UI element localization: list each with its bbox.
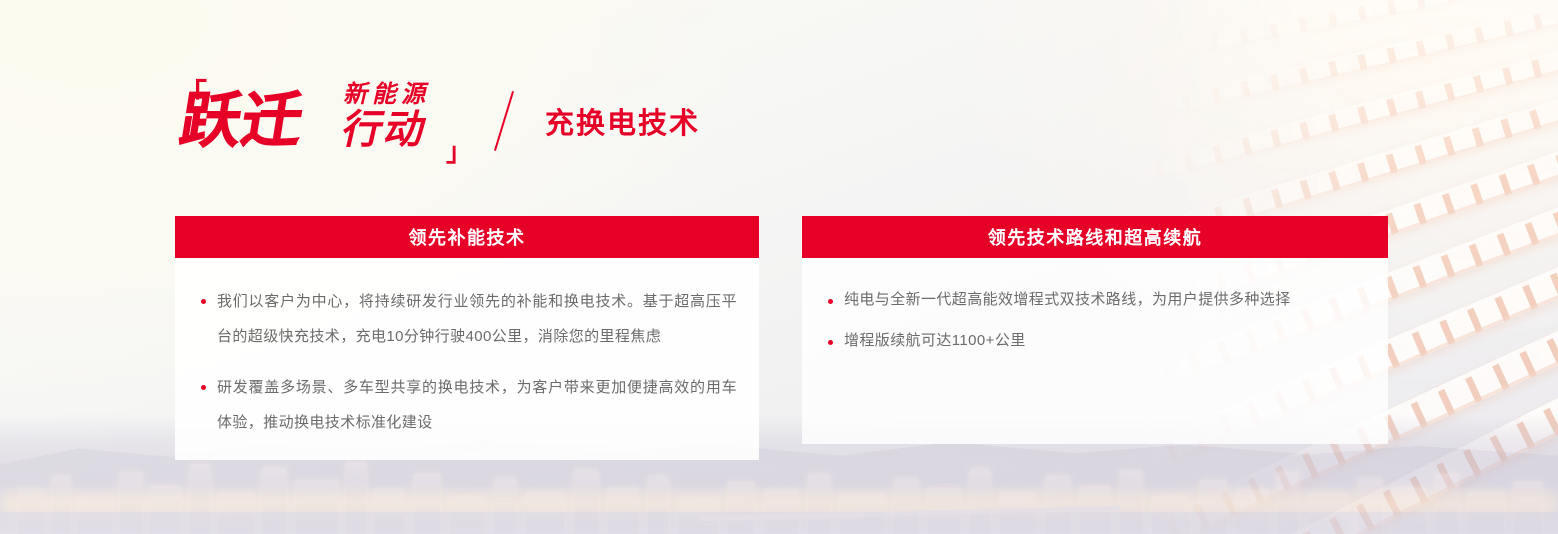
- logo-sub-top-text: 新能源: [342, 81, 435, 107]
- banner-stage: 「 跃迁 新能源 行动 「 充换电技术 领先补能技术 我们以客户为中心，将持续研…: [0, 0, 1558, 534]
- banner-header: 「 跃迁 新能源 行动 「 充换电技术: [175, 78, 700, 164]
- feature-card-leading-replenishment: 领先补能技术 我们以客户为中心，将持续研发行业领先的补能和换电技术。基于超高压平…: [175, 216, 759, 460]
- card-title-bar: 领先补能技术: [175, 216, 759, 258]
- feature-card-group: 领先补能技术 我们以客户为中心，将持续研发行业领先的补能和换电技术。基于超高压平…: [175, 216, 1388, 460]
- header-slash-divider: [494, 91, 514, 151]
- list-item: 增程版续航可达1100+公里: [824, 325, 1366, 357]
- card-body: 我们以客户为中心，将持续研发行业领先的补能和换电技术。基于超高压平台的超级快充技…: [175, 258, 759, 460]
- list-item: 我们以客户为中心，将持续研发行业领先的补能和换电技术。基于超高压平台的超级快充技…: [197, 284, 737, 354]
- card-title-bar: 领先技术路线和超高续航: [802, 216, 1388, 258]
- card-title: 领先补能技术: [409, 224, 526, 250]
- feature-card-tech-route-range: 领先技术路线和超高续航 纯电与全新一代超高能效增程式双技术路线，为用户提供多种选…: [802, 216, 1388, 460]
- list-item: 纯电与全新一代超高能效增程式双技术路线，为用户提供多种选择: [824, 284, 1366, 316]
- card-bullet-list: 纯电与全新一代超高能效增程式双技术路线，为用户提供多种选择 增程版续航可达110…: [824, 284, 1366, 357]
- logo-main-text: 跃迁: [176, 88, 308, 154]
- logo-sub-bottom-text: 行动: [338, 108, 432, 152]
- page-title: 充换电技术: [545, 100, 700, 142]
- list-item: 研发覆盖多场景、多车型共享的换电技术，为客户带来更加便捷高效的用车体验，推动换电…: [197, 370, 737, 440]
- brand-logo[interactable]: 「 跃迁 新能源 行动 「: [175, 78, 475, 164]
- card-bullet-list: 我们以客户为中心，将持续研发行业领先的补能和换电技术。基于超高压平台的超级快充技…: [197, 284, 737, 440]
- card-body: 纯电与全新一代超高能效增程式双技术路线，为用户提供多种选择 增程版续航可达110…: [802, 258, 1388, 444]
- logo-corner-bracket-end-icon: 「: [458, 140, 472, 160]
- card-title: 领先技术路线和超高续航: [988, 224, 1203, 250]
